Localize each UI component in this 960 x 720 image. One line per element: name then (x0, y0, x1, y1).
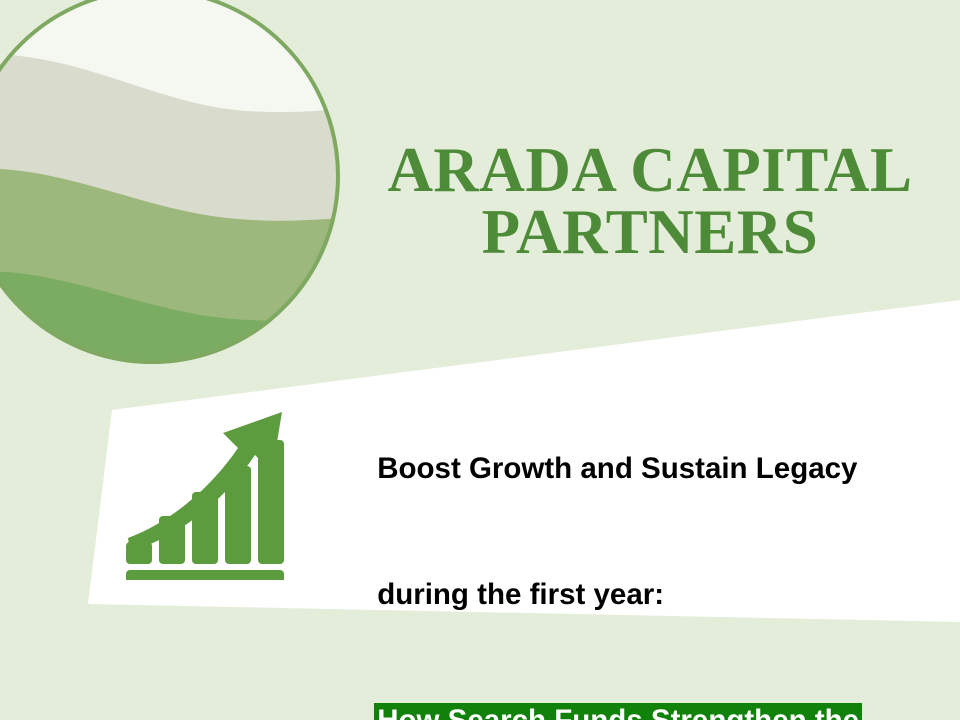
growth-bar-4 (225, 466, 251, 564)
page-title: ARADA CAPITAL PARTNERS (355, 140, 945, 263)
growth-bar-chart-arrow-icon (122, 404, 288, 580)
subtitle-line-2-text: during the first year: (374, 577, 667, 614)
subtitle-line-1: Boost Growth and Sustain Legacy (325, 406, 950, 532)
slide-canvas: ARADA CAPITAL PARTNERS Boost Growth and … (0, 0, 960, 720)
growth-bar-1 (126, 542, 152, 564)
subtitle-line-2: during the first year: (325, 532, 950, 658)
growth-bar-3 (192, 492, 218, 564)
subtitle-line-3: How Search Funds Strengthen the (325, 658, 950, 720)
subtitle-line-1-text: Boost Growth and Sustain Legacy (374, 451, 860, 488)
growth-baseline (126, 570, 284, 580)
subtitle-block: Boost Growth and Sustain Legacy during t… (325, 406, 950, 720)
growth-bar-2 (159, 516, 185, 564)
subtitle-line-3-text: How Search Funds Strengthen the (374, 703, 862, 720)
growth-bar-5 (258, 440, 284, 564)
